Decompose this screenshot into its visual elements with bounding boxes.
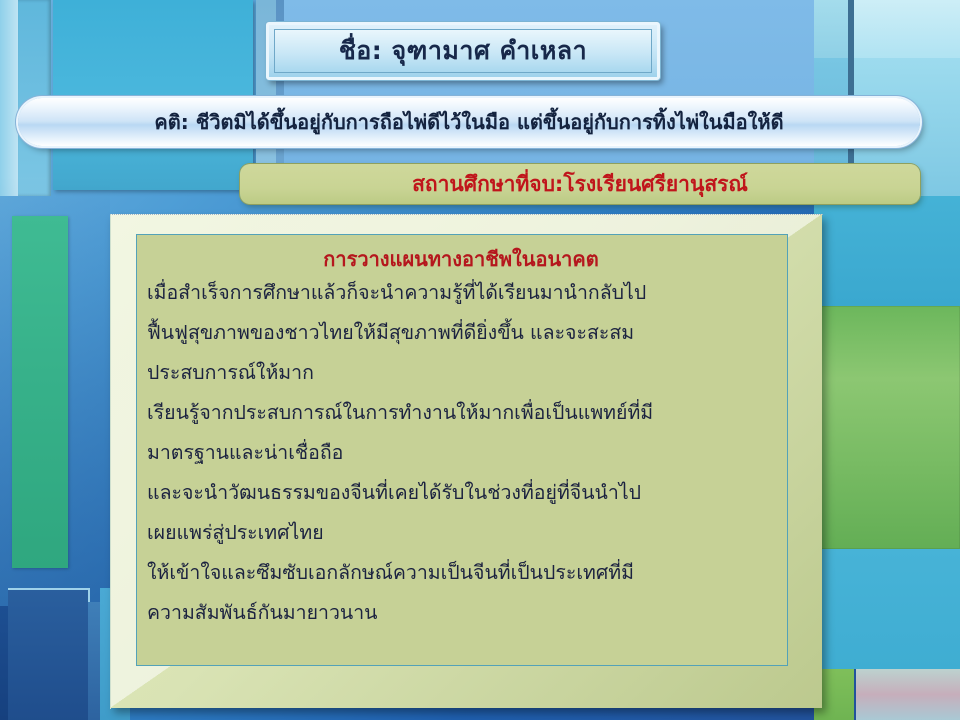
content-panel: การวางแผนทางอาชีพในอนาคต เมื่อสำเร็จการศ… [136,234,788,666]
bg-block-right-green [814,306,960,549]
bg-block-bottomleft-2 [88,602,100,720]
presentation-slide: ชื่อ: จุฑามาศ คำเหลา คติ: ชีวิตมิได้ขึ้น… [0,0,960,720]
content-line: และจะนำวัฒนธรรมของจีนที่เคยได้รับในช่วงท… [147,473,775,513]
bg-block-bottomleft-1 [8,588,90,720]
bg-block-right-cyan-1 [814,196,960,306]
content-line: ความสัมพันธ์กันมายาวนาน [147,593,775,633]
bg-block-right-cyan-2 [814,549,960,669]
school-banner: สถานศึกษาที่จบ:โรงเรียนศรียานุสรณ์ [240,164,920,204]
content-title: การวางแผนทางอาชีพในอนาคต [147,247,775,271]
motto-banner: คติ: ชีวิตมิได้ขึ้นอยู่กับการถือไพ่ดีไว้… [18,98,920,146]
content-line: มาตรฐานและน่าเชื่อถือ [147,433,775,473]
bg-block-left-green [12,216,68,568]
bg-block-top-1 [0,0,18,196]
motto-text: คติ: ชีวิตมิได้ขึ้นอยู่กับการถือไพ่ดีไว้… [154,106,783,138]
content-line: ฟื้นฟูสุขภาพของชาวไทยให้มีสุขภาพที่ดียิ่… [147,313,775,353]
content-line: เมื่อสำเร็จการศึกษาแล้วก็จะนำความรู้ที่ไ… [147,273,775,313]
content-line: ให้เข้าใจและซึมซับเอกลักษณ์ความเป็นจีนที… [147,553,775,593]
name-banner-inner: ชื่อ: จุฑามาศ คำเหลา [274,29,652,73]
content-line: เผยแพร่สู่ประเทศไทย [147,513,775,553]
content-line: เรียนรู้จากประสบการณ์ในการทำงานให้มากเพื… [147,393,775,433]
bg-block-topright-3 [854,0,960,58]
student-name-text: ชื่อ: จุฑามาศ คำเหลา [339,31,587,71]
content-frame: การวางแผนทางอาชีพในอนาคต เมื่อสำเร็จการศ… [110,214,822,708]
content-line: ประสบการณ์ให้มาก [147,353,775,393]
school-text: สถานศึกษาที่จบ:โรงเรียนศรียานุสรณ์ [412,168,748,201]
bg-block-bottomleft-edge [0,606,8,720]
content-body: เมื่อสำเร็จการศึกษาแล้วก็จะนำความรู้ที่ไ… [147,273,775,633]
bg-block-topright-1 [814,0,848,58]
name-banner: ชื่อ: จุฑามาศ คำเหลา [266,22,660,80]
bg-block-top-3 [53,0,253,190]
bg-block-bottomright-pink [856,669,960,720]
